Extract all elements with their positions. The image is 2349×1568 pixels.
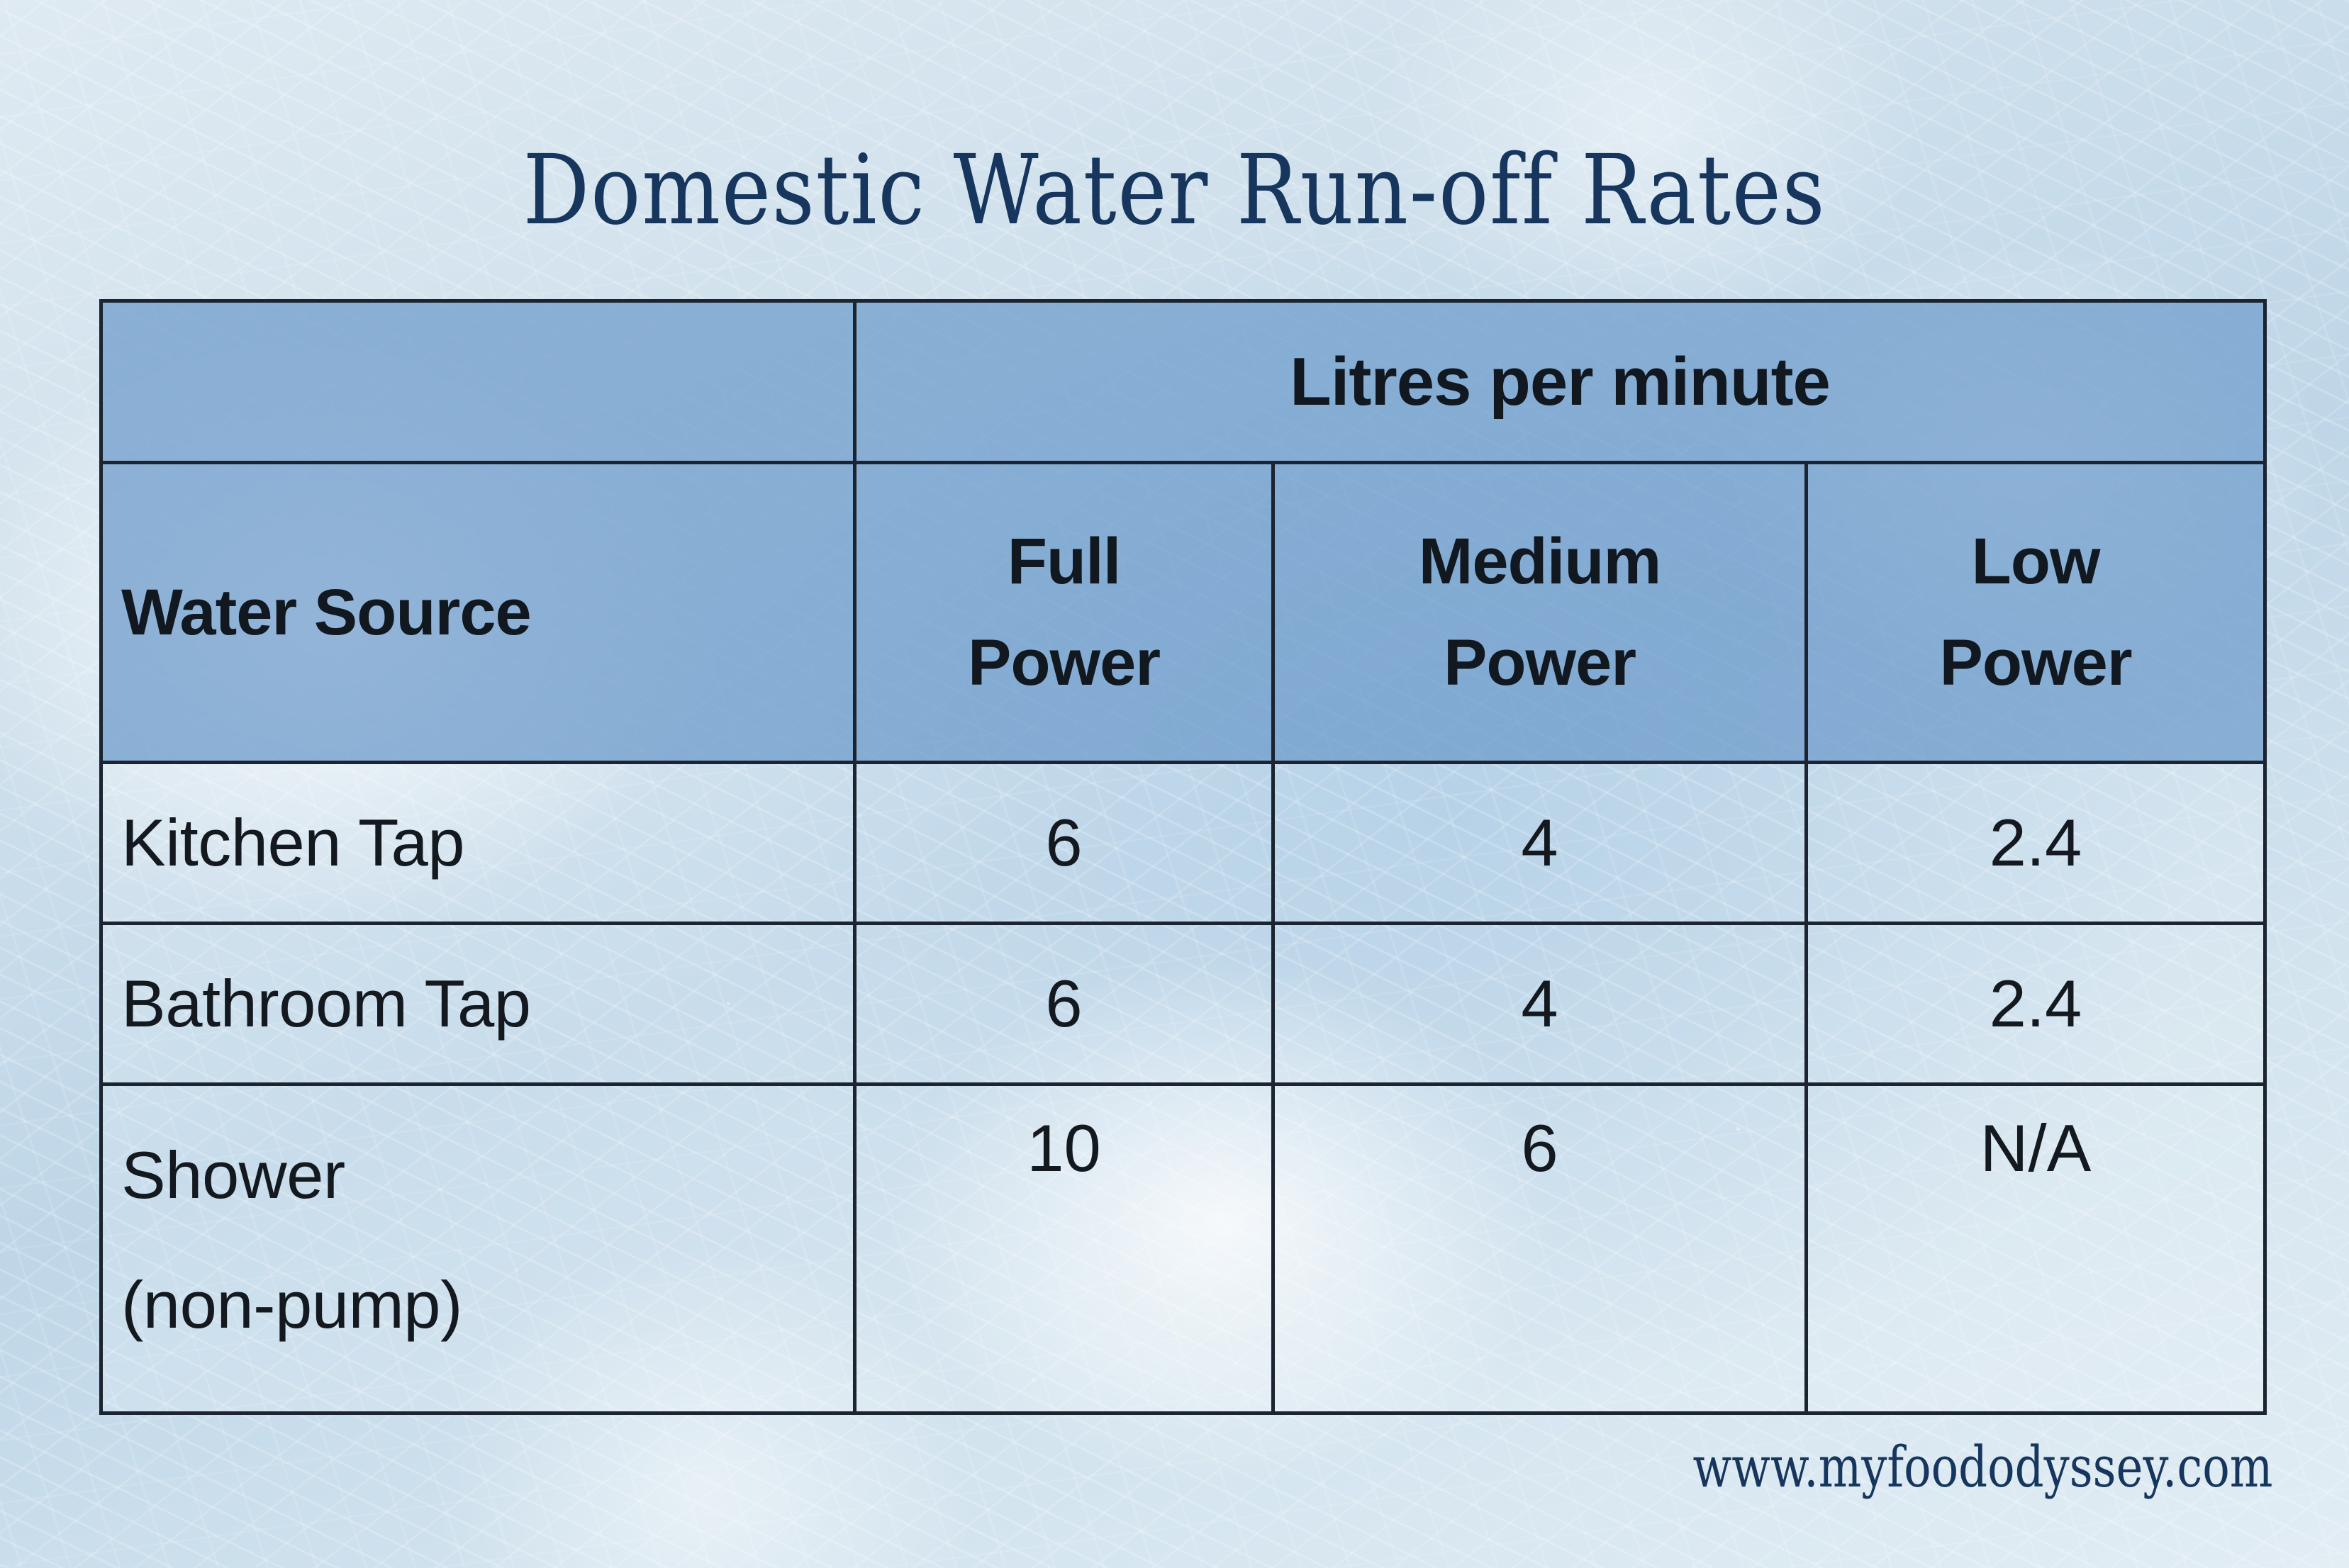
header-full-line1: Full xyxy=(875,511,1253,612)
water-rates-table-wrapper: Litres per minute Water Source Full Powe… xyxy=(99,299,2263,1370)
header-medium-line2: Power xyxy=(1293,612,1786,714)
site-url-watermark: www.myfoododyssey.com xyxy=(1692,1439,2272,1496)
header-cell-blank xyxy=(101,301,855,463)
header-cell-low-power: Low Power xyxy=(1807,463,2265,763)
cell-medium-power: 4 xyxy=(1273,924,1807,1085)
source-line2: (non-pump) xyxy=(121,1240,835,1370)
table-row: Shower (non-pump) 10 6 N/A xyxy=(101,1085,2265,1413)
cell-full-power: 6 xyxy=(855,924,1273,1085)
cell-medium-power: 4 xyxy=(1273,763,1807,924)
header-cell-medium-power: Medium Power xyxy=(1273,463,1807,763)
header-cell-full-power: Full Power xyxy=(855,463,1273,763)
cell-water-source: Kitchen Tap xyxy=(101,763,855,924)
source-line1: Shower xyxy=(121,1110,835,1240)
page-title: Domestic Water Run-off Rates xyxy=(164,142,2185,239)
cell-low-power: 2.4 xyxy=(1807,763,2265,924)
table-header-row-columns: Water Source Full Power Medium Power Low… xyxy=(101,463,2265,763)
header-low-line1: Low xyxy=(1826,511,2245,612)
cell-medium-power: 6 xyxy=(1273,1085,1807,1413)
header-low-line2: Power xyxy=(1826,612,2245,714)
table-row: Kitchen Tap 6 4 2.4 xyxy=(101,763,2265,924)
cell-water-source: Bathroom Tap xyxy=(101,924,855,1085)
header-cell-water-source: Water Source xyxy=(101,463,855,763)
source-line1: Bathroom Tap xyxy=(121,939,835,1068)
infographic-page: Domestic Water Run-off Rates Litres per … xyxy=(0,0,2349,1568)
header-full-line2: Power xyxy=(875,612,1253,714)
table-header-row-units: Litres per minute xyxy=(101,301,2265,463)
cell-full-power: 10 xyxy=(855,1085,1273,1413)
header-cell-units: Litres per minute xyxy=(855,301,2265,463)
water-rates-table: Litres per minute Water Source Full Powe… xyxy=(99,299,2267,1415)
header-medium-line1: Medium xyxy=(1293,511,1786,612)
table-row: Bathroom Tap 6 4 2.4 xyxy=(101,924,2265,1085)
cell-low-power: N/A xyxy=(1807,1085,2265,1413)
source-line1: Kitchen Tap xyxy=(121,778,835,907)
cell-low-power: 2.4 xyxy=(1807,924,2265,1085)
table-header: Litres per minute Water Source Full Powe… xyxy=(101,301,2265,763)
table-body: Kitchen Tap 6 4 2.4 Bathroom Tap 6 4 2.4 xyxy=(101,763,2265,1413)
cell-water-source: Shower (non-pump) xyxy=(101,1085,855,1413)
cell-full-power: 6 xyxy=(855,763,1273,924)
